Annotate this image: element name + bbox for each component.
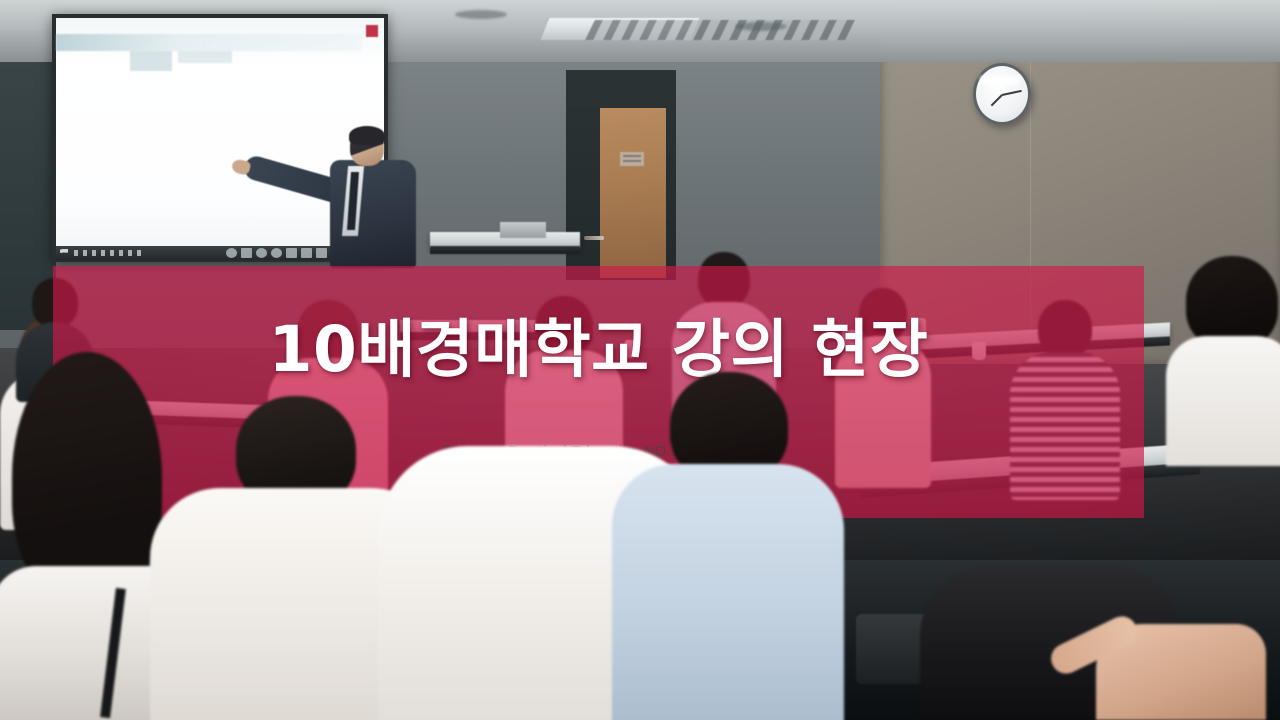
taskbar-icon — [256, 248, 267, 258]
ceiling-vent — [455, 10, 507, 19]
taskbar-icon — [316, 248, 327, 258]
laptop — [500, 222, 546, 238]
slide-canvas: 10배경매학교 강의 현장 Discover Practical Educati… — [0, 0, 1280, 720]
wall-clock — [973, 63, 1031, 125]
taskbar-icon — [286, 248, 297, 258]
clock-hour-hand — [991, 94, 1003, 106]
clock-glare — [980, 76, 1020, 85]
door-sign — [620, 152, 644, 166]
taskbar-icon — [226, 248, 237, 258]
door-leaf — [600, 108, 666, 278]
clock-minute-hand — [1002, 90, 1022, 96]
slide-title: 10배경매학교 강의 현장 — [53, 318, 1144, 381]
audience-person-right — [1166, 256, 1280, 456]
slide-toolbar-strip — [56, 34, 362, 51]
door-handle — [584, 236, 604, 240]
ceiling-light-grille — [585, 20, 855, 40]
presenter-hair — [349, 126, 385, 145]
slide-red-marker — [366, 25, 378, 37]
foreground-person-blue — [612, 372, 844, 720]
ceiling-vent — [735, 22, 787, 31]
foreground-hand-pointing — [1036, 596, 1280, 720]
taskbar-text — [74, 250, 144, 256]
taskbar-icon — [241, 248, 252, 258]
slide-panel-block — [130, 51, 172, 71]
taskbar-icon — [301, 248, 312, 258]
taskbar-icon — [271, 248, 282, 258]
slide-panel-block — [178, 51, 232, 63]
front-table-edge — [430, 246, 580, 254]
